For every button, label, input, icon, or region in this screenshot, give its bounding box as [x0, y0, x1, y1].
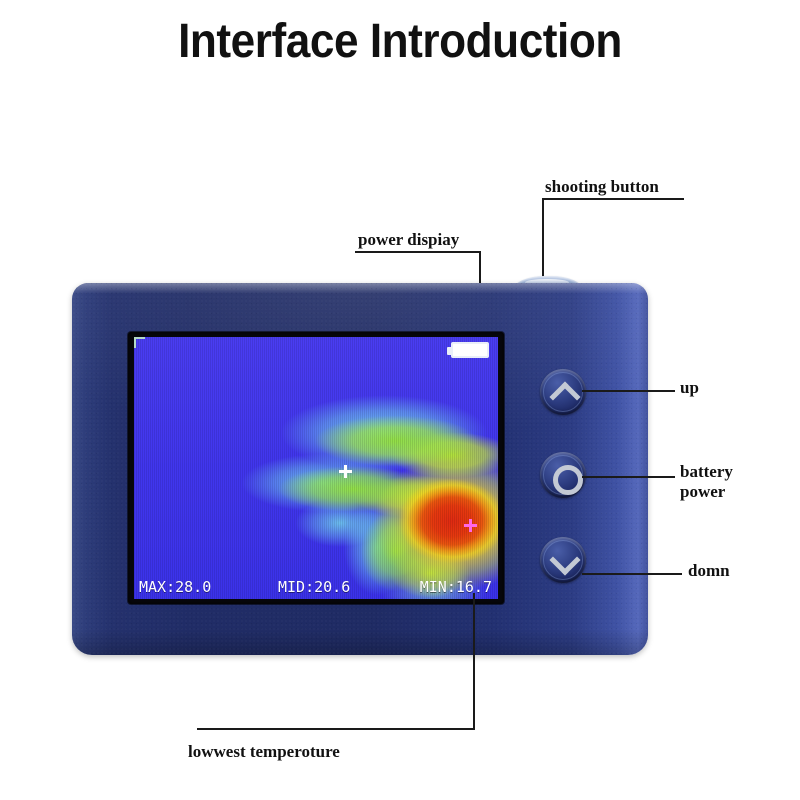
leader-line-up: [582, 390, 675, 392]
callout-label-battery-power-line2: power: [680, 482, 733, 502]
status-max-temperature: MAX:28.0: [139, 578, 211, 596]
thermal-image: [134, 337, 498, 599]
focus-corner-icon: [134, 337, 145, 348]
leader-line-down: [582, 573, 682, 575]
page-title: Interface Introduction: [32, 14, 768, 69]
leader-line-power-display-horizontal: [355, 251, 481, 253]
chevron-down-icon: [550, 547, 576, 573]
device-bottom-bevel: [72, 629, 648, 655]
battery-icon: [451, 342, 489, 358]
leader-line-lowest-temperature-horizontal: [197, 728, 475, 730]
circle-ring-icon: [550, 462, 576, 488]
leader-line-lowest-temperature-vertical: [473, 593, 475, 729]
callout-label-battery-power-line1: battery: [680, 462, 733, 482]
battery-power-button[interactable]: [540, 452, 586, 498]
chevron-up-icon: [550, 379, 576, 405]
callout-label-shooting-button: shooting button: [545, 177, 659, 197]
callout-label-up: up: [680, 378, 699, 398]
leader-line-shooting-button-horizontal: [542, 198, 684, 200]
down-button[interactable]: [540, 537, 586, 583]
callout-label-battery-power: battery power: [680, 462, 733, 502]
lcd-screen: MAX:28.0 MID:20.6 MIN:16.7: [134, 337, 498, 599]
callout-label-power-display: power dispiay: [358, 230, 459, 250]
leader-line-shooting-button-vertical: [542, 198, 544, 284]
lcd-bezel: MAX:28.0 MID:20.6 MIN:16.7: [128, 332, 504, 604]
callout-label-down: domn: [688, 561, 730, 581]
callout-label-lowest-temperature: lowwest temperoture: [188, 742, 340, 762]
status-mid-temperature: MID:20.6: [278, 578, 350, 596]
page-root: Interface Introduction shooting button p…: [0, 0, 800, 800]
up-button[interactable]: [540, 369, 586, 415]
leader-line-battery-power: [582, 476, 675, 478]
status-min-temperature: MIN:16.7: [420, 578, 492, 596]
device-top-bevel: [72, 283, 648, 293]
lcd-status-bar: MAX:28.0 MID:20.6 MIN:16.7: [134, 575, 498, 599]
